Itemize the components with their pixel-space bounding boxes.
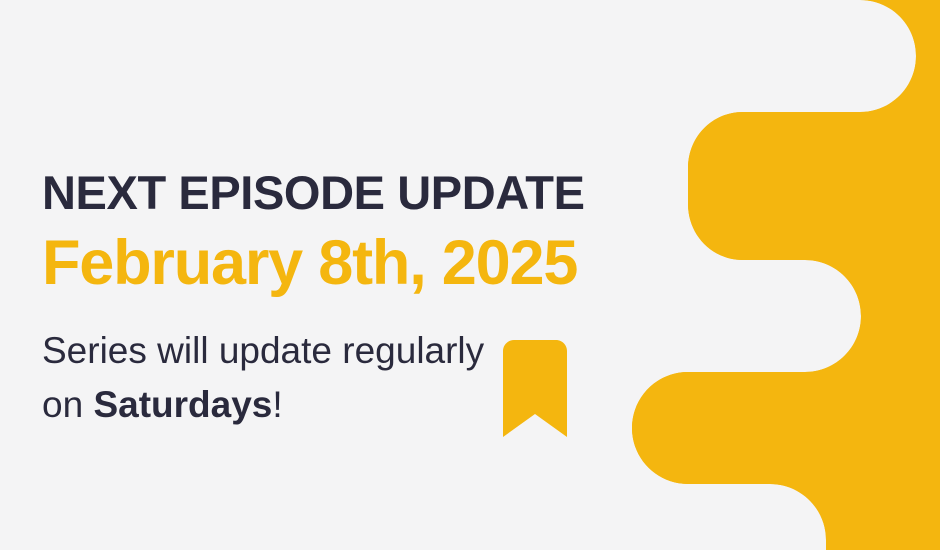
schedule-note-suffix: ! bbox=[272, 384, 282, 425]
schedule-note-emphasis: Saturdays bbox=[93, 384, 272, 425]
page-title: NEXT EPISODE UPDATE bbox=[42, 168, 722, 218]
announcement-banner: NEXT EPISODE UPDATE February 8th, 2025 S… bbox=[0, 0, 940, 550]
schedule-note: Series will update regularly on Saturday… bbox=[42, 324, 512, 432]
episode-date: February 8th, 2025 bbox=[42, 228, 722, 299]
banner-content: NEXT EPISODE UPDATE February 8th, 2025 S… bbox=[42, 168, 722, 432]
bookmark-icon bbox=[503, 340, 567, 437]
